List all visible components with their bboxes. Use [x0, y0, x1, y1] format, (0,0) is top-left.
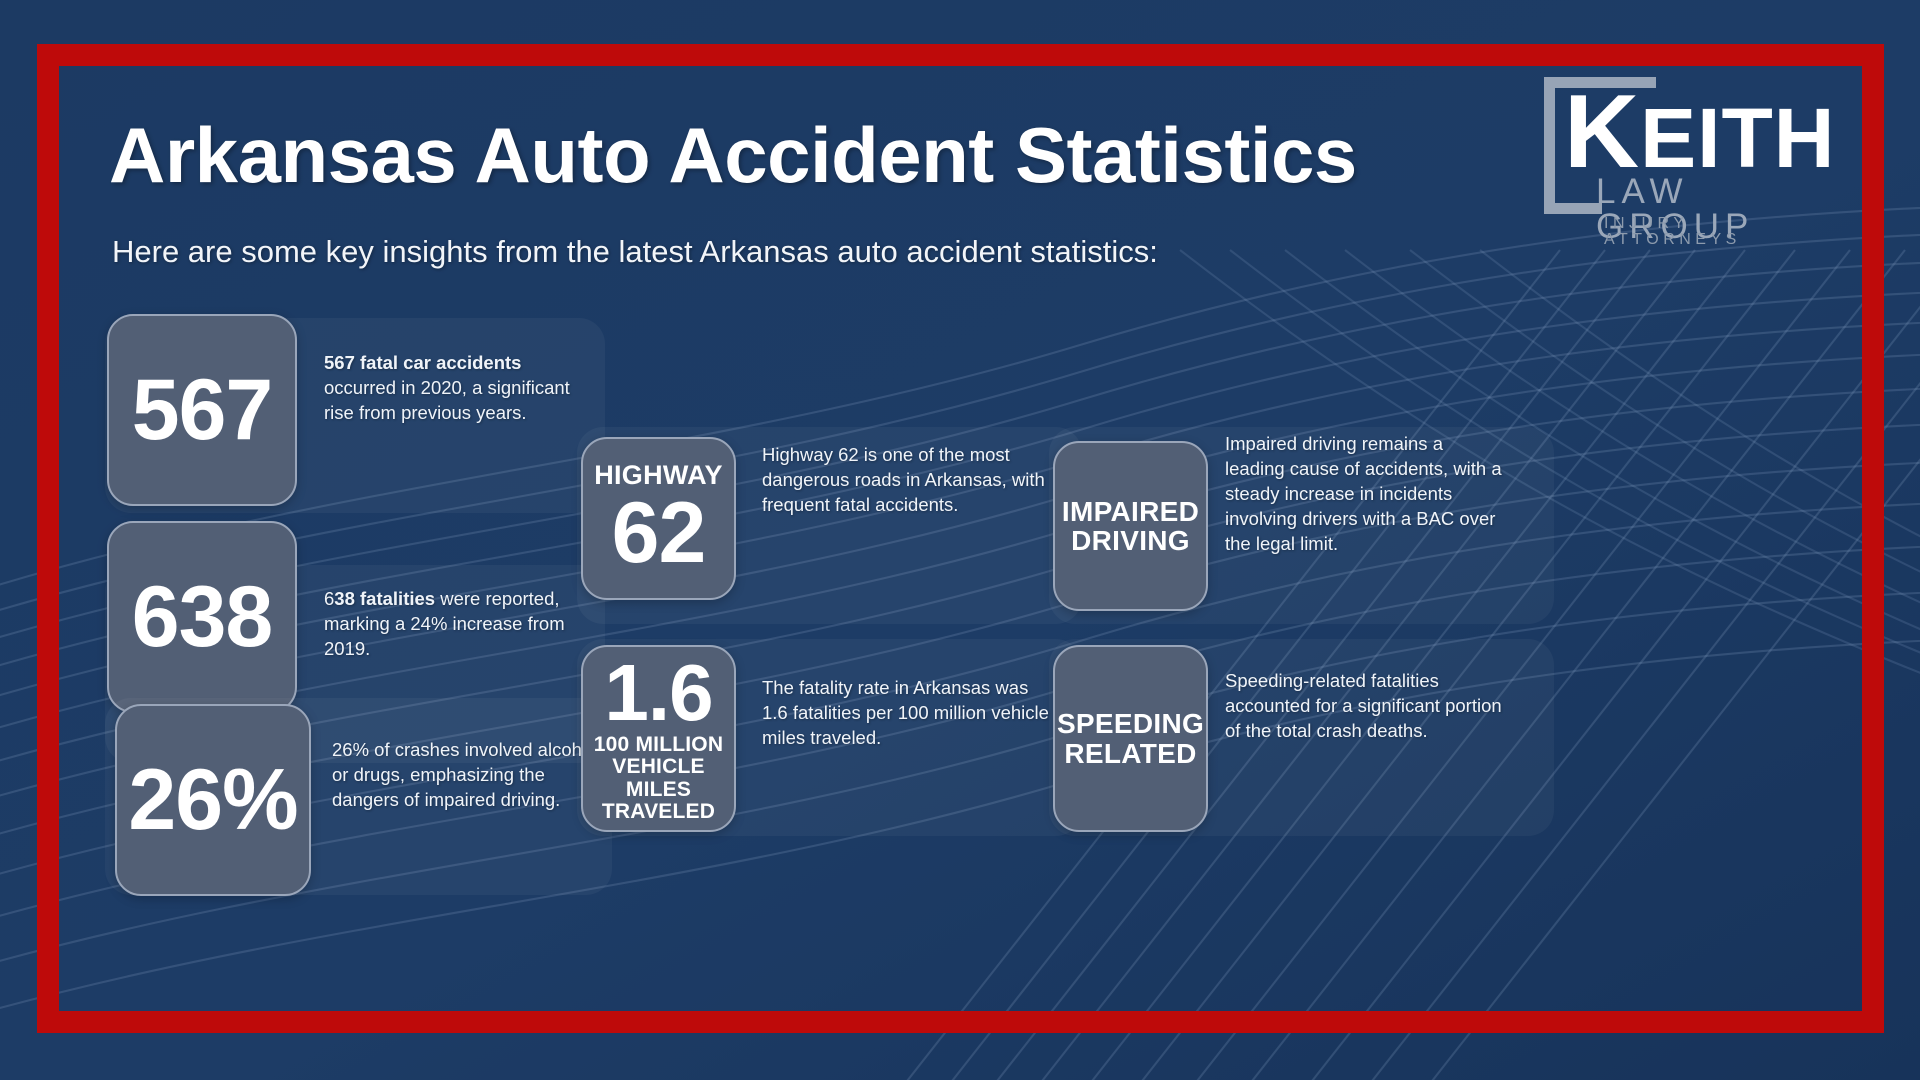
- stat-value-638: 638: [132, 575, 273, 659]
- stat-tile-speeding-related: SPEEDING RELATED: [1053, 645, 1208, 832]
- stat-desc-alcohol-or-drugs: 26% of crashes involved alcohol or drugs…: [332, 738, 612, 813]
- stat-sublabel-fatality-rate: 100 MILLION VEHICLE MILES TRAVELED: [587, 734, 730, 823]
- stat-desc-rest-5: Impaired driving remains a leading cause…: [1225, 433, 1502, 554]
- stat-desc-highway-62: Highway 62 is one of the most dangerous …: [762, 443, 1052, 518]
- stat-tile-alcohol-or-drugs: 26%: [115, 704, 311, 896]
- stat-desc-rest-2: 26% of crashes involved alcohol or drugs…: [332, 739, 596, 810]
- stat-desc-impaired-driving: Impaired driving remains a leading cause…: [1225, 432, 1505, 557]
- stat-desc-fatalities: 638 fatalities were reported, marking a …: [324, 587, 614, 662]
- stat-tile-impaired-driving: IMPAIRED DRIVING: [1053, 441, 1208, 611]
- stat-desc-fatality-rate: The fatality rate in Arkansas was 1.6 fa…: [762, 676, 1057, 751]
- stat-desc-fatal-car-accidents: 567 fatal car accidents occurred in 2020…: [324, 351, 589, 426]
- stat-tile-fatality-rate: 1.6 100 MILLION VEHICLE MILES TRAVELED: [581, 645, 736, 832]
- stat-tile-fatalities: 638: [107, 521, 297, 713]
- keith-law-group-logo: KEITH LAW GROUP INJURY ATTORNEYS: [1542, 64, 1832, 234]
- stat-caplabel-impaired-driving: IMPAIRED DRIVING: [1055, 497, 1206, 555]
- stat-value-26-percent: 26%: [128, 758, 297, 842]
- stat-desc-rest-3: Highway 62 is one of the most dangerous …: [762, 444, 1045, 515]
- stat-desc-rest-4: The fatality rate in Arkansas was 1.6 fa…: [762, 677, 1049, 748]
- infographic-canvas: Arkansas Auto Accident Statistics Here a…: [0, 0, 1920, 1080]
- stat-value-567: 567: [132, 368, 273, 452]
- stat-desc-speeding-related: Speeding-related fatalities accounted fo…: [1225, 669, 1515, 744]
- page-subtitle: Here are some key insights from the late…: [112, 234, 1158, 270]
- page-title: Arkansas Auto Accident Statistics: [109, 116, 1357, 194]
- stat-caplabel-speeding-related: SPEEDING RELATED: [1055, 709, 1206, 767]
- stat-desc-bold-0: 567 fatal car accidents: [324, 352, 521, 373]
- logo-brand-rest: EITH: [1640, 91, 1835, 185]
- stat-value-62: 62: [612, 491, 706, 575]
- stat-desc-lead-1: 6: [324, 588, 334, 609]
- stat-tile-fatal-car-accidents: 567: [107, 314, 297, 506]
- infographic-content: Arkansas Auto Accident Statistics Here a…: [37, 44, 1884, 1033]
- stat-value-1-6: 1.6: [604, 654, 712, 732]
- stat-desc-bold-1: 38 fatalities: [334, 588, 435, 609]
- stat-desc-rest-6: Speeding-related fatalities accounted fo…: [1225, 670, 1502, 741]
- logo-brand-name: KEITH: [1564, 80, 1835, 184]
- stat-desc-rest-0: occurred in 2020, a significant rise fro…: [324, 377, 570, 423]
- stat-tile-highway-62: HIGHWAY 62: [581, 437, 736, 600]
- logo-subtagline: INJURY ATTORNEYS: [1604, 216, 1832, 248]
